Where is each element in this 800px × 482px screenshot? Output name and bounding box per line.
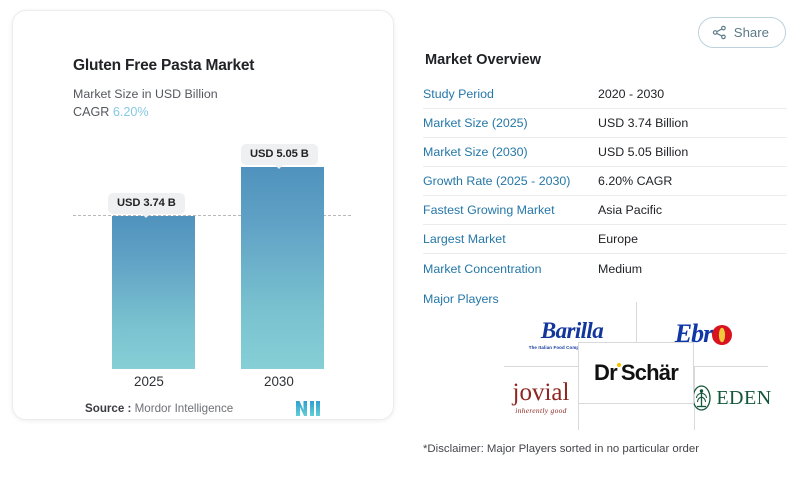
row-value: Medium — [598, 262, 642, 276]
bar-chart-plot: USD 3.74 B USD 5.05 B 2025 2030 — [13, 11, 395, 421]
share-icon — [712, 25, 727, 40]
share-button-label: Share — [734, 25, 769, 40]
row-value: USD 3.74 Billion — [598, 116, 688, 130]
x-axis-tick-2030: 2030 — [264, 374, 294, 389]
table-row: Study Period 2020 - 2030 — [423, 80, 787, 109]
row-value: Europe — [598, 232, 638, 246]
logo-eden: EDEN — [696, 370, 768, 426]
barilla-name: Barilla — [529, 319, 615, 342]
row-value: 6.20% CAGR — [598, 174, 672, 188]
row-key: Market Size (2030) — [423, 145, 598, 159]
logo-jovial: jovial inherently good — [506, 370, 576, 426]
row-value: 2020 - 2030 — [598, 87, 664, 101]
jovial-tagline: inherently good — [513, 406, 570, 415]
jovial-name: jovial — [513, 381, 570, 405]
bar-value-label-2030: USD 5.05 B — [241, 144, 318, 165]
table-row: Market Concentration Medium — [423, 254, 787, 283]
table-row: Growth Rate (2025 - 2030) 6.20% CAGR — [423, 167, 787, 196]
eden-name: EDEN — [716, 388, 771, 408]
source-label: Source : — [85, 402, 131, 415]
row-value: Asia Pacific — [598, 203, 662, 217]
disclaimer-text: *Disclaimer: Major Players sorted in no … — [423, 443, 699, 455]
schar-name-first: Dr — [594, 360, 617, 385]
row-key: Largest Market — [423, 232, 598, 246]
table-row: Market Size (2025) USD 3.74 Billion — [423, 109, 787, 138]
row-key: Growth Rate (2025 - 2030) — [423, 174, 598, 188]
market-overview-title: Market Overview — [425, 52, 541, 68]
x-axis-tick-2025: 2025 — [134, 374, 164, 389]
row-key: Fastest Growing Market — [423, 203, 598, 217]
row-key: Market Concentration — [423, 262, 598, 276]
mordor-intelligence-logo-icon — [295, 399, 321, 424]
chart-card: Gluten Free Pasta Market Market Size in … — [12, 10, 394, 420]
major-players-logo-grid: Barilla The Italian Food Company. Since … — [504, 302, 768, 430]
bar-2030 — [241, 167, 324, 369]
bar-2025 — [112, 216, 195, 369]
screenshot-root: Gluten Free Pasta Market Market Size in … — [0, 0, 800, 482]
row-key: Market Size (2025) — [423, 116, 598, 130]
logo-dr-schar: DrSchär — [578, 342, 694, 404]
source-name: Mordor Intelligence — [135, 402, 234, 415]
source-line: Source : Mordor Intelligence — [85, 402, 233, 415]
schar-name-second: Schär — [621, 360, 678, 385]
share-button[interactable]: Share — [698, 17, 786, 48]
ebro-grain-icon — [711, 322, 733, 346]
eden-tree-icon — [692, 385, 711, 411]
row-key: Study Period — [423, 87, 598, 101]
table-row: Largest Market Europe — [423, 225, 787, 254]
row-value: USD 5.05 Billion — [598, 145, 688, 159]
table-row: Market Size (2030) USD 5.05 Billion — [423, 138, 787, 167]
table-row: Fastest Growing Market Asia Pacific — [423, 196, 787, 225]
major-players-label: Major Players — [423, 292, 499, 306]
market-overview-table: Study Period 2020 - 2030 Market Size (20… — [423, 80, 787, 283]
bar-value-label-2025: USD 3.74 B — [108, 193, 185, 214]
